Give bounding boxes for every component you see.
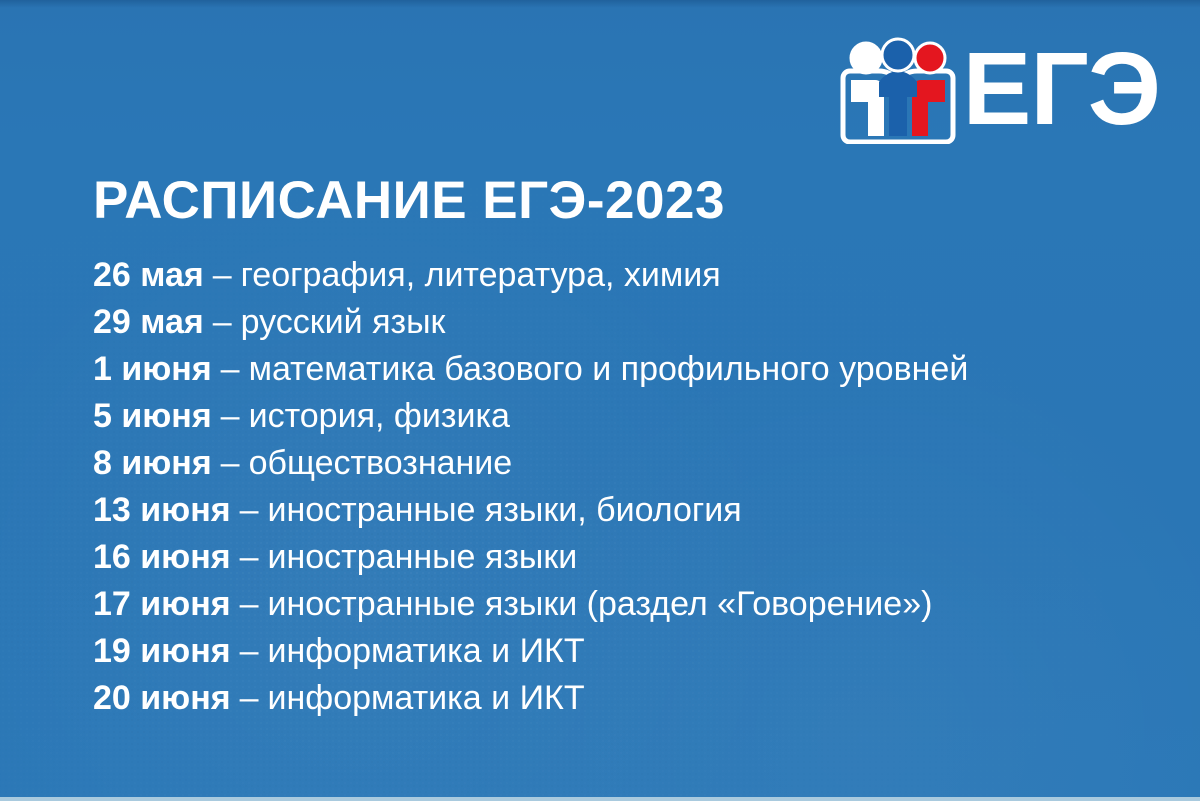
schedule-date: 26 мая xyxy=(93,252,204,299)
schedule-date: 13 июня xyxy=(93,487,231,534)
bottom-edge-strip xyxy=(0,797,1200,801)
schedule-dash: – xyxy=(240,487,259,534)
top-edge-band xyxy=(0,0,1200,8)
schedule-row: 26 мая – география, литература, химия xyxy=(93,252,1153,299)
ege-logo-letters: ЕГЭ xyxy=(963,39,1160,140)
ege-logo: ЕГЭ xyxy=(839,34,1160,146)
schedule-dash: – xyxy=(221,346,240,393)
page-title: РАСПИСАНИЕ ЕГЭ-2023 xyxy=(93,174,725,227)
schedule-row: 13 июня – иностранные языки, биология xyxy=(93,487,1153,534)
schedule-dash: – xyxy=(221,393,240,440)
schedule-subject: русский язык xyxy=(241,299,446,346)
schedule-date: 1 июня xyxy=(93,346,212,393)
schedule-row: 20 июня – информатика и ИКТ xyxy=(93,675,1153,722)
schedule-subject: информатика и ИКТ xyxy=(268,675,585,722)
schedule-date: 17 июня xyxy=(93,581,231,628)
schedule-row: 8 июня – обществознание xyxy=(93,440,1153,487)
schedule-dash: – xyxy=(240,628,259,675)
schedule-dash: – xyxy=(213,299,232,346)
schedule-dash: – xyxy=(240,675,259,722)
schedule-row: 1 июня – математика базового и профильно… xyxy=(93,346,1153,393)
schedule-row: 16 июня – иностранные языки xyxy=(93,534,1153,581)
schedule-dash: – xyxy=(240,581,259,628)
schedule-subject: география, литература, химия xyxy=(241,252,721,299)
ege-emblem-icon xyxy=(839,36,957,144)
schedule-subject: история, физика xyxy=(249,393,510,440)
ege-schedule-poster: ЕГЭ РАСПИСАНИЕ ЕГЭ-2023 26 мая – географ… xyxy=(0,0,1200,801)
schedule-list: 26 мая – география, литература, химия 29… xyxy=(93,252,1153,722)
schedule-subject: иностранные языки xyxy=(268,534,578,581)
schedule-date: 5 июня xyxy=(93,393,212,440)
schedule-row: 29 мая – русский язык xyxy=(93,299,1153,346)
schedule-date: 16 июня xyxy=(93,534,231,581)
schedule-date: 20 июня xyxy=(93,675,231,722)
schedule-date: 19 июня xyxy=(93,628,231,675)
schedule-row: 5 июня – история, физика xyxy=(93,393,1153,440)
schedule-dash: – xyxy=(240,534,259,581)
schedule-subject: математика базового и профильного уровне… xyxy=(249,346,969,393)
schedule-subject: иностранные языки (раздел «Говорение») xyxy=(268,581,933,628)
schedule-row: 19 июня – информатика и ИКТ xyxy=(93,628,1153,675)
schedule-date: 29 мая xyxy=(93,299,204,346)
schedule-subject: информатика и ИКТ xyxy=(268,628,585,675)
schedule-subject: обществознание xyxy=(249,440,513,487)
schedule-dash: – xyxy=(213,252,232,299)
schedule-date: 8 июня xyxy=(93,440,212,487)
schedule-subject: иностранные языки, биология xyxy=(268,487,742,534)
schedule-row: 17 июня – иностранные языки (раздел «Гов… xyxy=(93,581,1153,628)
schedule-dash: – xyxy=(221,440,240,487)
